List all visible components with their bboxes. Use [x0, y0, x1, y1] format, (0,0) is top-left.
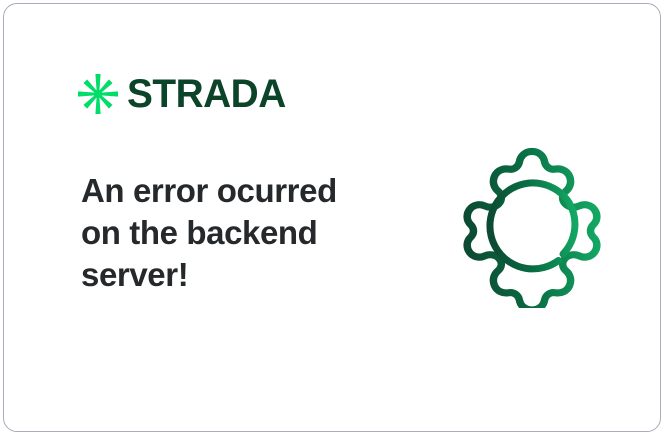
- gear-cog-icon: [451, 146, 613, 308]
- strada-starburst-icon: [78, 74, 118, 114]
- error-message: An error ocurred on the backend server!: [81, 170, 371, 296]
- brand-wordmark: STRADA: [127, 74, 286, 114]
- error-card: STRADA An error ocurred on the backend s…: [3, 3, 661, 432]
- brand-logo: STRADA: [78, 74, 291, 114]
